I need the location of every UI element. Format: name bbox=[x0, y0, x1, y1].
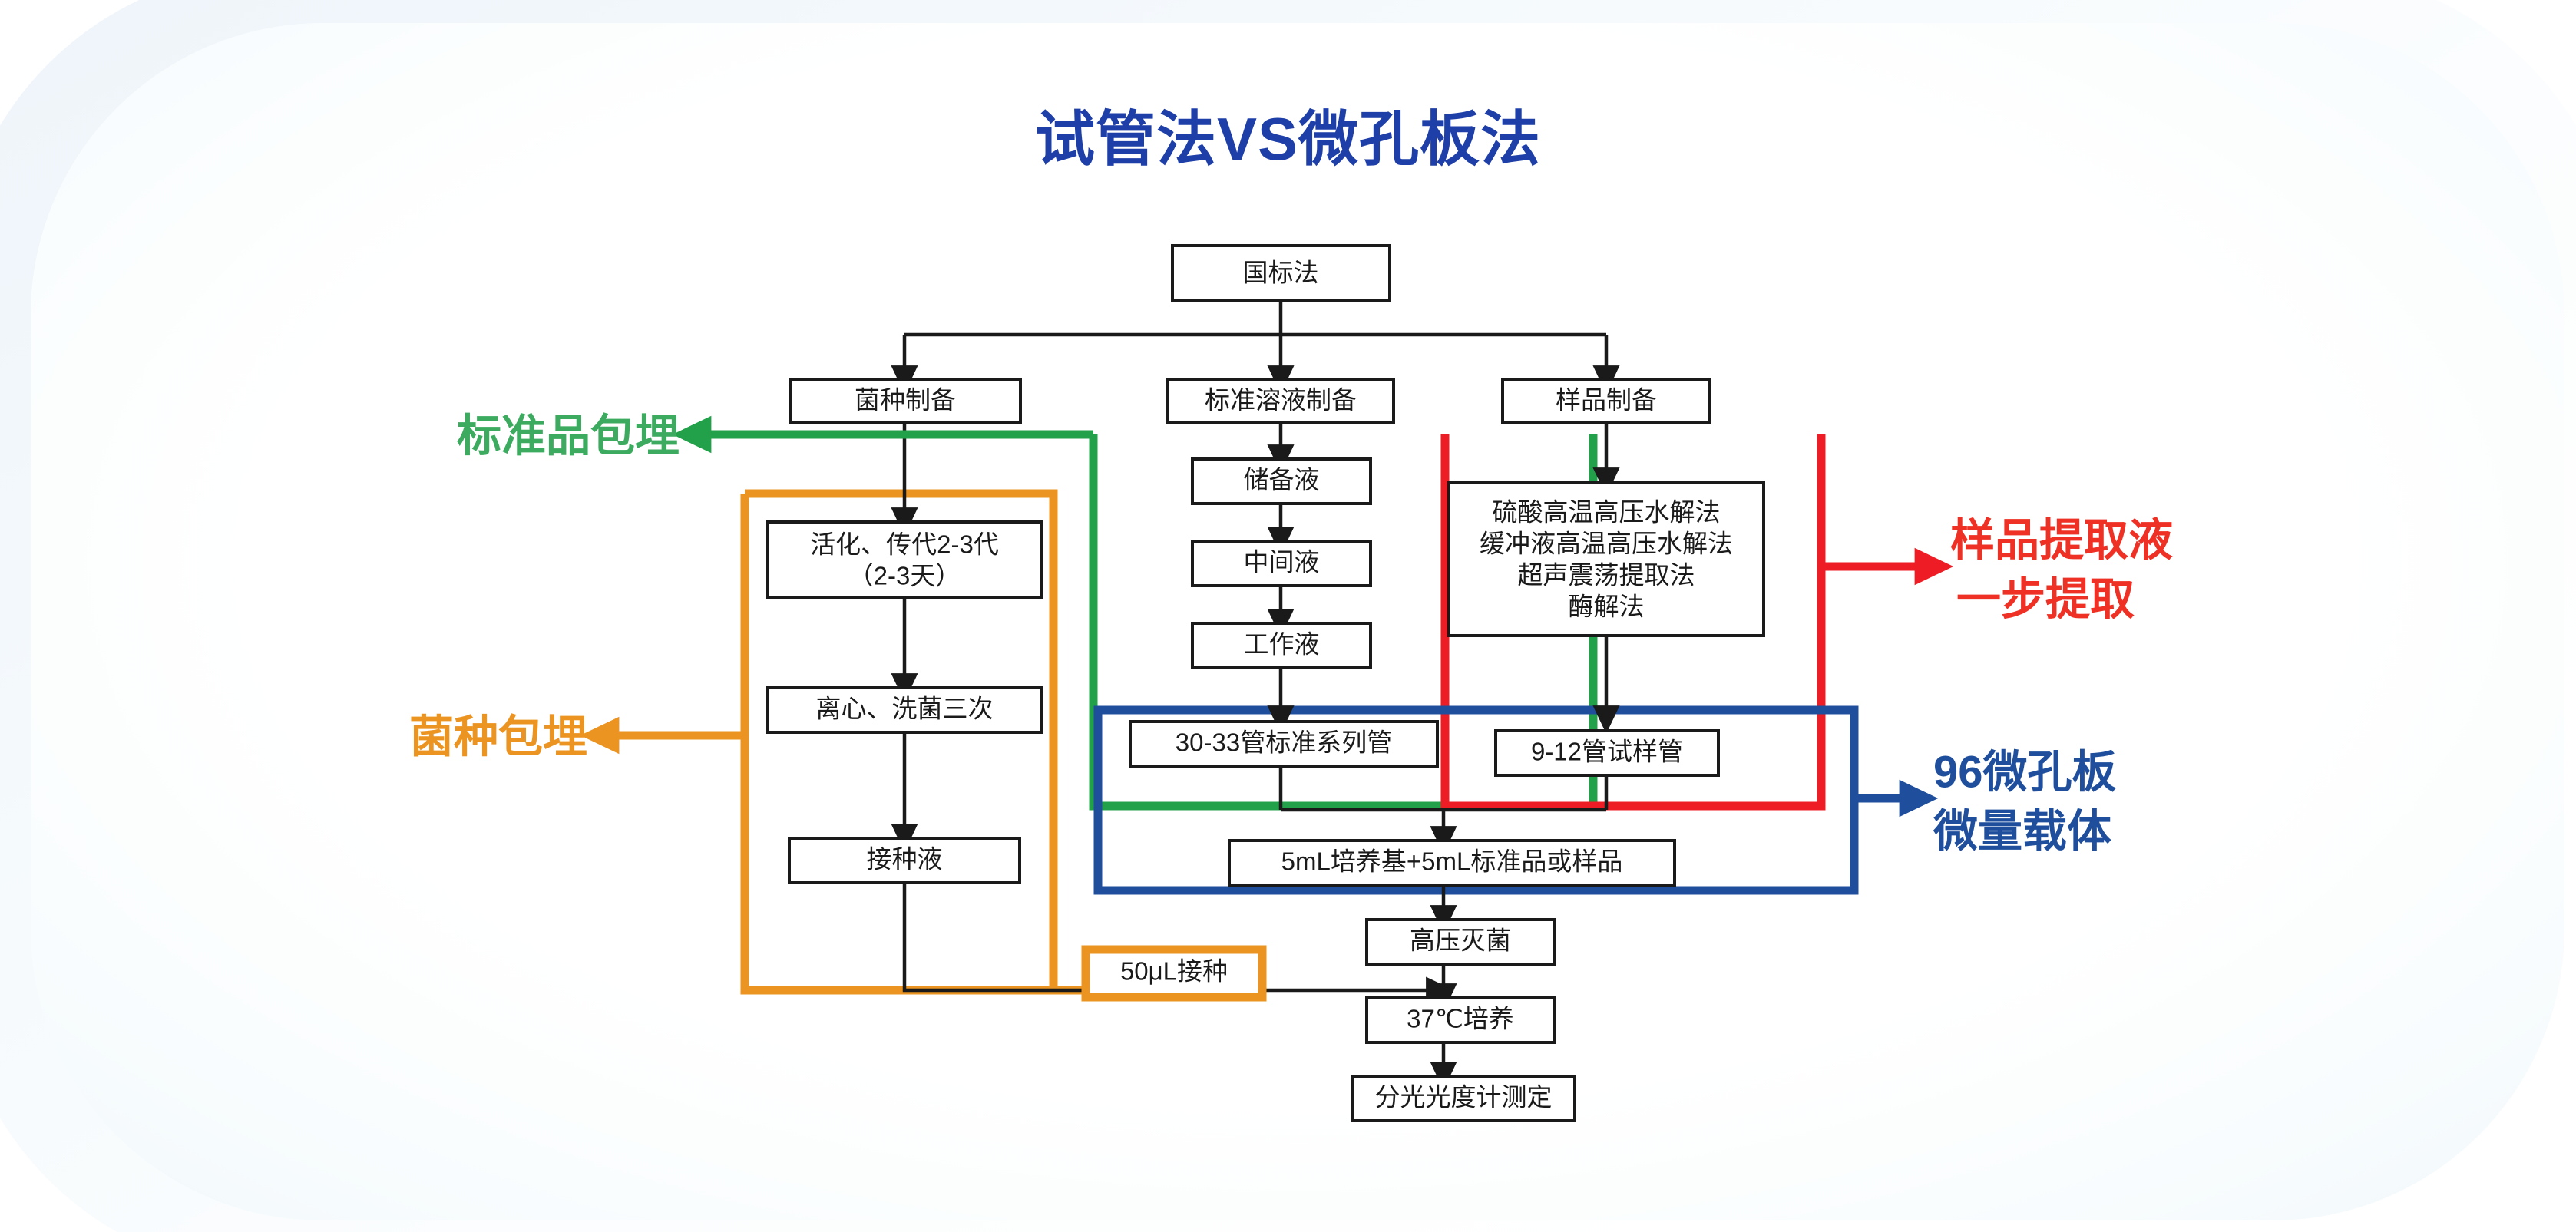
side-label-red-line1: 样品提取液 bbox=[1950, 515, 2173, 565]
node-sample-tubes[interactable]: 9-12管试样管 bbox=[1496, 731, 1718, 775]
node-inoculate[interactable]: 50μL接种 bbox=[1086, 950, 1262, 997]
node-branch-mid-label: 标准溶液制备 bbox=[1205, 386, 1357, 415]
node-measure-label: 分光光度计测定 bbox=[1375, 1083, 1553, 1111]
node-branch-left[interactable]: 菌种制备 bbox=[790, 380, 1020, 423]
side-label-green: 标准品包埋 bbox=[457, 411, 680, 461]
flowchart-svg: 国标法 菌种制备 标准溶液制备 样品制备 活化、传代2-3代 （2-3天） 离心… bbox=[0, 0, 2576, 1232]
diagram-canvas: 试管法VS微孔板法 bbox=[0, 0, 2576, 1232]
node-left-inoculum[interactable]: 接种液 bbox=[789, 838, 1020, 883]
side-label-blue-line1: 96微孔板 bbox=[1933, 747, 2117, 797]
node-mid-working-label: 工作液 bbox=[1244, 630, 1320, 659]
node-left-activate[interactable]: 活化、传代2-3代 （2-3天） bbox=[768, 522, 1041, 597]
node-right-extraction-line4: 酶解法 bbox=[1569, 593, 1645, 621]
node-media-mix-label: 5mL培养基+5mL标准品或样品 bbox=[1281, 847, 1623, 876]
node-left-inoculum-label: 接种液 bbox=[867, 845, 943, 874]
node-standard-tubes-label: 30-33管标准系列管 bbox=[1176, 728, 1392, 757]
node-branch-left-label: 菌种制备 bbox=[855, 386, 956, 415]
node-measure[interactable]: 分光光度计测定 bbox=[1352, 1076, 1575, 1121]
node-branch-right-label: 样品制备 bbox=[1556, 386, 1657, 415]
node-left-activate-line1: 活化、传代2-3代 bbox=[810, 530, 999, 559]
node-mid-stock[interactable]: 储备液 bbox=[1192, 459, 1371, 504]
node-sample-tubes-label: 9-12管试样管 bbox=[1531, 738, 1683, 766]
node-mid-intermediate[interactable]: 中间液 bbox=[1192, 541, 1371, 586]
node-mid-intermediate-label: 中间液 bbox=[1244, 548, 1320, 576]
node-right-extraction-line2: 缓冲液高温高压水解法 bbox=[1480, 530, 1733, 558]
node-branch-right[interactable]: 样品制备 bbox=[1503, 380, 1710, 423]
node-sterilize[interactable]: 高压灭菌 bbox=[1367, 920, 1554, 964]
node-root-label: 国标法 bbox=[1243, 259, 1319, 287]
side-label-red-line2: 一步提取 bbox=[1956, 574, 2135, 624]
node-right-extraction[interactable]: 硫酸高温高压水解法 缓冲液高温高压水解法 超声震荡提取法 酶解法 bbox=[1449, 482, 1764, 636]
node-root[interactable]: 国标法 bbox=[1172, 246, 1390, 301]
node-media-mix[interactable]: 5mL培养基+5mL标准品或样品 bbox=[1229, 841, 1675, 885]
side-label-blue-line2: 微量载体 bbox=[1933, 806, 2111, 856]
side-label-orange: 菌种包埋 bbox=[409, 712, 587, 761]
node-mid-working[interactable]: 工作液 bbox=[1192, 623, 1371, 668]
node-branch-mid[interactable]: 标准溶液制备 bbox=[1168, 380, 1394, 423]
node-incubate-label: 37℃培养 bbox=[1407, 1005, 1514, 1033]
node-standard-tubes[interactable]: 30-33管标准系列管 bbox=[1130, 722, 1437, 766]
node-right-extraction-line3: 超声震荡提取法 bbox=[1518, 561, 1695, 590]
node-inoculate-label: 50μL接种 bbox=[1120, 957, 1228, 986]
node-sterilize-label: 高压灭菌 bbox=[1410, 926, 1511, 955]
node-incubate[interactable]: 37℃培养 bbox=[1367, 998, 1554, 1042]
node-left-centrifuge[interactable]: 离心、洗菌三次 bbox=[768, 688, 1041, 732]
node-mid-stock-label: 储备液 bbox=[1244, 466, 1320, 494]
node-left-centrifuge-label: 离心、洗菌三次 bbox=[816, 695, 994, 723]
node-right-extraction-line1: 硫酸高温高压水解法 bbox=[1493, 498, 1721, 527]
node-left-activate-line2: （2-3天） bbox=[848, 562, 961, 590]
